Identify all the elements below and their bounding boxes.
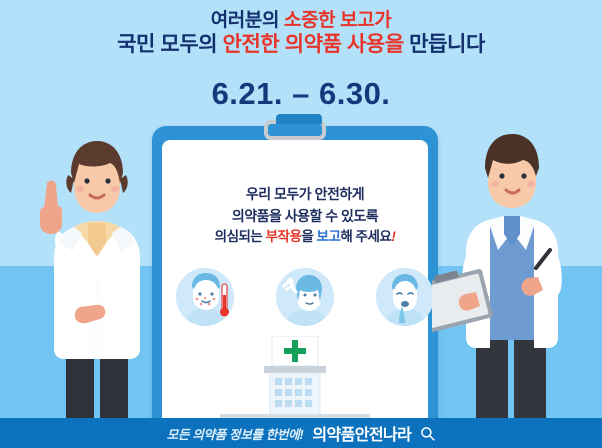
footer-brand-name: 의약품안전나라 bbox=[312, 421, 411, 445]
nausea-vomiting-glyph bbox=[376, 268, 434, 326]
symptom-icon-row bbox=[176, 268, 434, 326]
magnifier-icon[interactable] bbox=[420, 426, 435, 441]
male-doctor-with-clipboard bbox=[432, 128, 592, 426]
footer-tagline: 모든 의약품 정보를 한번에! bbox=[167, 424, 304, 443]
clipboard-paper: 우리 모두가 안전하게 의약품을 사용할 수 있도록 의심되는 부작용을 보고해… bbox=[162, 140, 428, 426]
headline-line2-text-b: 만듭니다 bbox=[404, 33, 485, 56]
headline-line1-accent: 소중한 보고가 bbox=[284, 10, 391, 31]
clipboard-line-3: 의심되는 부작용을 보고해 주세요! bbox=[162, 227, 448, 248]
clipboard-clip-icon bbox=[264, 120, 326, 140]
headline-line-1: 여러분의 소중한 보고가 bbox=[0, 9, 602, 32]
headline-line2-accent: 안전한 의약품 사용을 bbox=[223, 33, 404, 56]
clipboard-panel: 우리 모두가 안전하게 의약품을 사용할 수 있도록 의심되는 부작용을 보고해… bbox=[152, 126, 438, 426]
rash-fever-icon bbox=[176, 268, 234, 326]
headline-line1-text: 여러분의 bbox=[211, 10, 284, 31]
clipboard-line-2: 의약품을 사용할 수 있도록 bbox=[162, 206, 448, 228]
clipboard-line3-b: 을 bbox=[301, 229, 316, 244]
headline: 여러분의 소중한 보고가 국민 모두의 안전한 의약품 사용을 만듭니다 bbox=[0, 9, 602, 58]
headache-dizziness-glyph bbox=[276, 268, 334, 326]
rash-fever-glyph bbox=[176, 268, 234, 326]
nausea-vomiting-icon bbox=[376, 268, 434, 326]
banner-root: 여러분의 소중한 보고가 국민 모두의 안전한 의약품 사용을 만듭니다 6.2… bbox=[0, 0, 602, 448]
clipboard-line3-c: 해 주세요 bbox=[340, 229, 391, 244]
footer-bar[interactable]: 모든 의약품 정보를 한번에! 의약품안전나라 bbox=[0, 418, 602, 448]
clipboard-line3-mark: ! bbox=[391, 229, 395, 244]
headline-line2-text-a: 국민 모두의 bbox=[117, 33, 222, 56]
campaign-date-range: 6.21. – 6.30. bbox=[0, 76, 602, 112]
clipboard-line-1: 우리 모두가 안전하게 bbox=[162, 184, 448, 206]
clipboard-line3-blue: 보고 bbox=[317, 229, 341, 244]
headache-dizziness-icon bbox=[276, 268, 334, 326]
clipboard-message: 우리 모두가 안전하게 의약품을 사용할 수 있도록 의심되는 부작용을 보고해… bbox=[162, 184, 448, 248]
female-doctor-pointing bbox=[22, 131, 172, 426]
clipboard-line3-a: 의심되는 bbox=[215, 229, 266, 244]
headline-line-2: 국민 모두의 안전한 의약품 사용을 만듭니다 bbox=[0, 32, 602, 58]
clipboard-line3-red: 부작용 bbox=[266, 229, 302, 244]
